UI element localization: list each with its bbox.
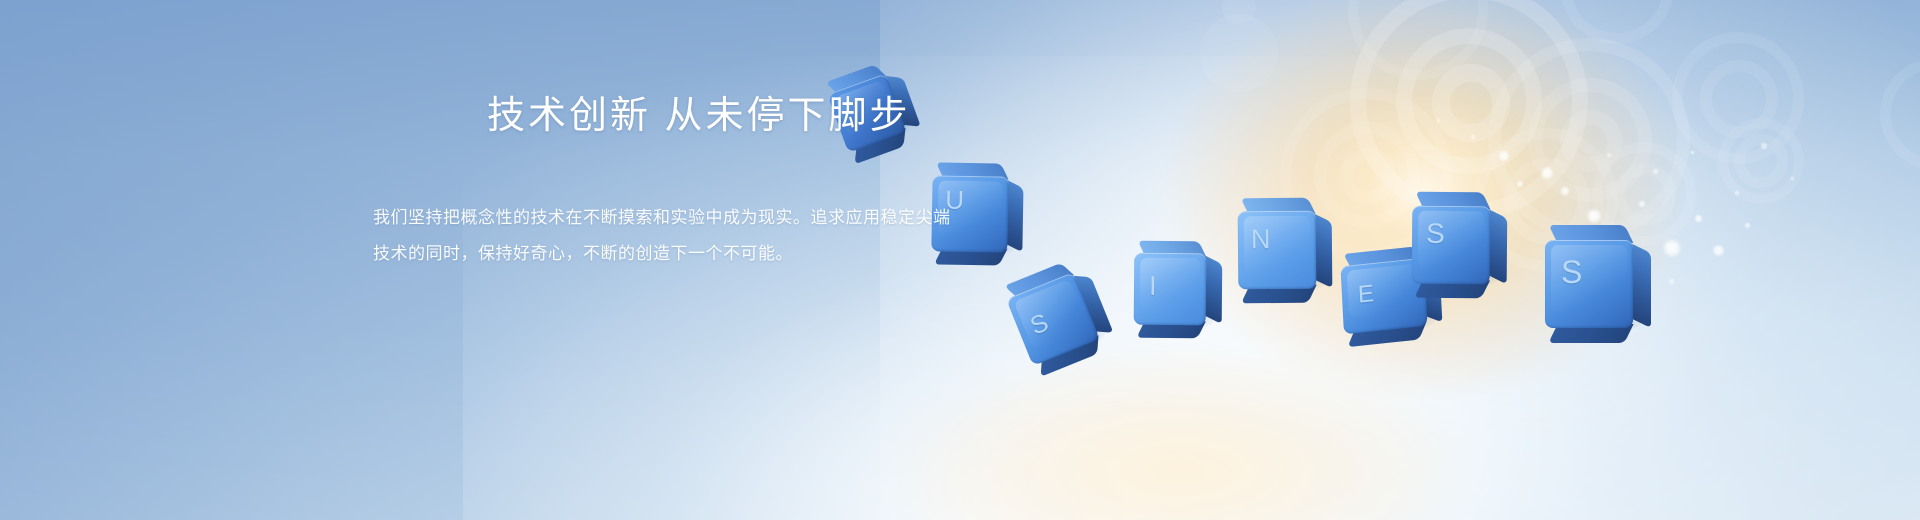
banner-copy: 技术创新 从未停下脚步 我们坚持把概念性的技术在不断摸索和实验中成为现实。追求应… [373,90,1093,272]
banner-subtitle: 我们坚持把概念性的技术在不断摸索和实验中成为现实。追求应用稳定尖端 技术的同时，… [373,200,1093,272]
subtitle-line-2: 技术的同时，保持好奇心，不断的创造下一个不可能。 [373,236,1093,272]
keycap-letter: S [1027,310,1052,339]
hero-banner: U S I [0,0,1920,520]
keycap-s-3: S [1545,240,1633,328]
keycap-i: I [1134,253,1207,326]
keycap-s-2: S [1412,206,1491,285]
keycap-n: N [1238,211,1317,290]
keycap-letter: S [1426,220,1445,248]
keycap-side-face [1630,243,1651,328]
keycap-s-1: S [1006,272,1100,366]
keycap-front-face: S [1545,240,1633,328]
keycap-front-face: I [1134,253,1207,326]
subtitle-line-1: 我们坚持把概念性的技术在不断摸索和实验中成为现实。追求应用稳定尖端 [373,200,1093,236]
keycap-letter: N [1251,226,1271,253]
keycap-front-face: N [1238,211,1317,290]
keycap-letter: E [1357,282,1374,308]
keycap-letter: I [1149,273,1157,300]
page-title: 技术创新 从未停下脚步 [487,90,1093,142]
keycap-letter: S [1561,256,1582,288]
keycap-front-face: S [1412,206,1491,285]
